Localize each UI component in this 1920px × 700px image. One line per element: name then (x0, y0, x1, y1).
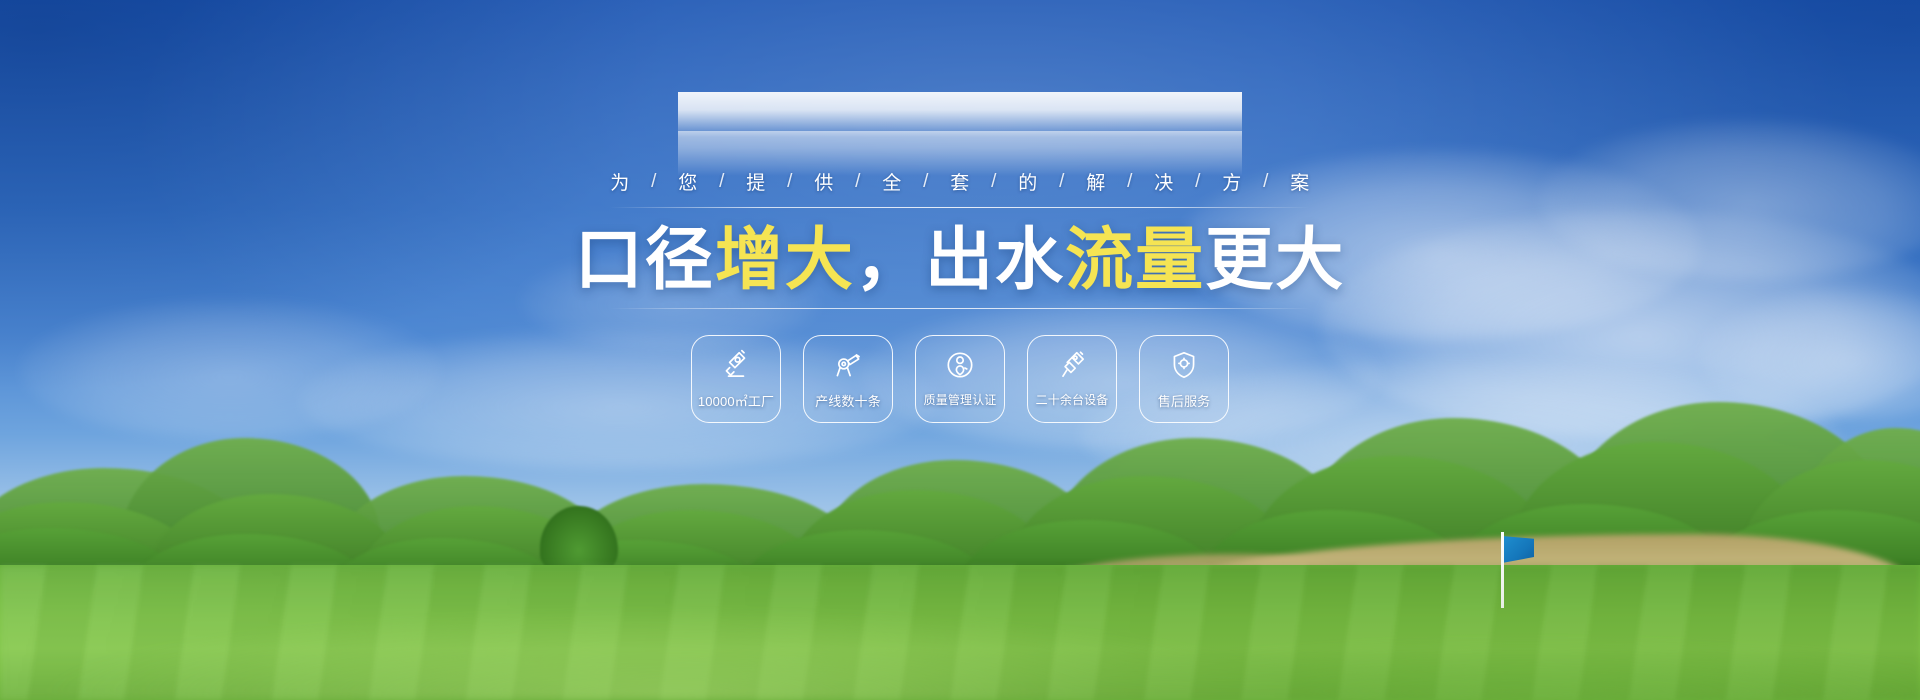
main-headline: 口径增大，出水流量更大 (575, 222, 1346, 298)
slash-tagline-char: 为 (603, 168, 637, 195)
banner-copy: INTEGRATED SEWAGE TREATMENT 为 / 您 / 提 / … (0, 0, 1920, 423)
slash-tagline-char: 套 (943, 168, 977, 195)
equipment-icon (1055, 348, 1089, 382)
golf-flag-pole (1501, 532, 1504, 608)
slash-separator: / (909, 171, 943, 193)
slash-separator: / (1249, 171, 1283, 193)
slash-separator: / (841, 171, 875, 193)
divider-bottom (610, 308, 1310, 309)
slash-separator: / (1181, 171, 1215, 193)
slash-tagline-char: 方 (1215, 168, 1249, 195)
feature-badge-label: 10000㎡工厂 (698, 391, 774, 410)
slash-tagline: 为 / 您 / 提 / 供 / 全 / 套 / 的 / 解 / 决 / 方 / … (603, 168, 1317, 195)
feature-badge-equipment[interactable]: 二十余台设备 (1027, 335, 1117, 423)
headline-segment: 口径 (575, 222, 715, 298)
slash-separator: / (1045, 171, 1079, 193)
slash-separator: / (705, 171, 739, 193)
slash-tagline-char: 全 (875, 168, 909, 195)
lawn-highlight (0, 565, 1920, 700)
slash-tagline-char: 解 (1079, 168, 1113, 195)
slash-separator: / (637, 171, 671, 193)
microscope-icon (719, 348, 753, 382)
feature-badge-label: 售后服务 (1158, 391, 1211, 410)
hero-banner: INTEGRATED SEWAGE TREATMENT 为 / 您 / 提 / … (0, 0, 1920, 700)
feature-badge-after-sales[interactable]: 售后服务 (1139, 335, 1229, 423)
slash-tagline-char: 您 (671, 168, 705, 195)
slash-tagline-char: 决 (1147, 168, 1181, 195)
feature-badge-list: 10000㎡工厂 产线数十条 (691, 335, 1229, 423)
shield-service-icon (1167, 348, 1201, 382)
headline-segment: 更大 (1205, 222, 1345, 298)
feature-badge-label: 质量管理认证 (924, 391, 997, 408)
feature-badge-quality-certification[interactable]: 质量管理认证 (915, 335, 1005, 423)
slash-tagline-char: 供 (807, 168, 841, 195)
slash-tagline-char: 提 (739, 168, 773, 195)
slash-separator: / (1113, 171, 1147, 193)
feature-badge-label: 二十余台设备 (1036, 391, 1109, 408)
english-headline: INTEGRATED SEWAGE TREATMENT (678, 92, 1242, 176)
slash-tagline-char: 的 (1011, 168, 1045, 195)
feature-badge-factory[interactable]: 10000㎡工厂 (691, 335, 781, 423)
slash-separator: / (773, 171, 807, 193)
feature-badge-production-lines[interactable]: 产线数十条 (803, 335, 893, 423)
english-headline-line1: INTEGRATED (678, 92, 1242, 137)
headline-segment: 增大 (715, 222, 855, 298)
machine-icon (831, 348, 865, 382)
slash-tagline-char: 案 (1283, 168, 1317, 195)
feature-badge-label: 产线数十条 (815, 391, 881, 410)
certificate-badge-icon (943, 348, 977, 382)
headline-segment: 出水 (925, 222, 1065, 298)
slash-separator: / (977, 171, 1011, 193)
divider-top (610, 207, 1310, 208)
landscape-scene (0, 400, 1920, 700)
headline-segment: 流量 (1065, 222, 1205, 298)
headline-segment: ， (855, 222, 925, 298)
